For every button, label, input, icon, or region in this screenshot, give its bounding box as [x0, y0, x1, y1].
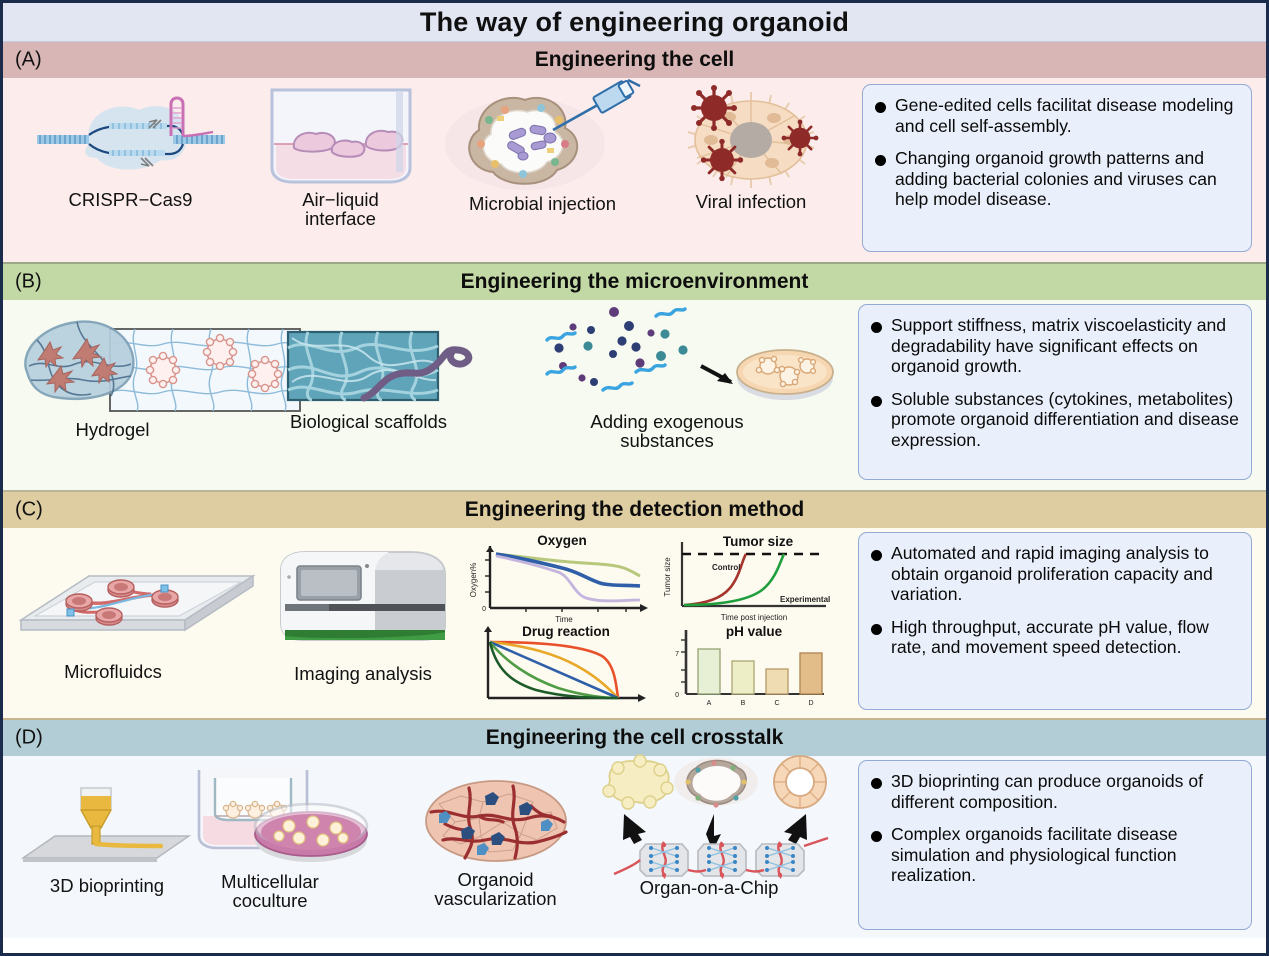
- bioprinter-nozzle-icon: [21, 784, 193, 866]
- bullet-icon: [875, 102, 886, 113]
- chart-ph-xtick-d: D: [808, 700, 813, 707]
- air-liquid-interface-icon: [262, 86, 420, 188]
- chart-ph-ytick-7: 7: [675, 651, 679, 658]
- panel-b-tag: (B): [15, 271, 42, 294]
- organoid-grey: [674, 758, 758, 808]
- chart-tumor-size-title: Tumor size: [723, 534, 794, 549]
- note-item: 3D bioprinting can produce organoids of …: [869, 771, 1239, 812]
- panel-c-charts: Oxygen 0 Oxygen% Time: [458, 532, 838, 712]
- note-item: Complex organoids facilitate disease sim…: [869, 824, 1239, 886]
- note-item: High throughput, accurate pH value, flow…: [869, 617, 1239, 658]
- viral-infection-icon: [664, 90, 839, 190]
- panel-b-body: Hydrogel: [3, 300, 1266, 490]
- arrow-icon: [623, 814, 807, 844]
- panel-d: (D) Engineering the cell crosstalk: [3, 720, 1266, 938]
- item-hydrogel: Hydrogel: [15, 310, 305, 439]
- label-air-liquid-interface: Air−liquid interface: [302, 190, 379, 228]
- panel-c-header: (C) Engineering the detection method: [3, 492, 1266, 528]
- bullet-icon: [875, 155, 886, 166]
- note-text: High throughput, accurate pH value, flow…: [891, 617, 1239, 658]
- label-organoid-vascularization: Organoid vascularization: [434, 870, 556, 908]
- bar-d: [800, 653, 822, 694]
- panel-b: (B) Engineering the microenvironment: [3, 264, 1266, 490]
- bar-c: [766, 669, 788, 694]
- label-hydrogel: Hydrogel: [75, 420, 149, 439]
- label-3d-bioprinting: 3D bioprinting: [50, 876, 164, 895]
- organ-on-a-chip-icon: [588, 758, 838, 876]
- bar-b: [732, 661, 754, 694]
- chart-ph-xtick-c: C: [774, 700, 779, 707]
- item-microbial-injection: Microbial injection: [435, 86, 650, 213]
- panel-c: (C) Engineering the detection method: [3, 492, 1266, 718]
- note-item: Gene-edited cells facilitat disease mode…: [873, 95, 1239, 136]
- chart-tumor-size-ylabel: Tumor size: [663, 557, 672, 597]
- panel-d-tag: (D): [15, 727, 43, 750]
- panel-a-tag: (A): [15, 49, 42, 72]
- chart-tumor-size: Tumor size Tumor size Time post injectio…: [654, 532, 836, 624]
- panel-b-notes: Support stiffness, matrix viscoelasticit…: [858, 304, 1252, 480]
- item-air-liquid-interface: Air−liquid interface: [258, 86, 423, 228]
- label-viral-infection: Viral infection: [696, 192, 807, 211]
- panel-a-header: (A) Engineering the cell: [3, 42, 1266, 78]
- item-multicellular-coculture: Multicellular coculture: [181, 762, 381, 910]
- organoid-yellow: [603, 755, 673, 809]
- label-organ-on-a-chip: Organ-on-a-Chip: [640, 878, 779, 897]
- note-text: Gene-edited cells facilitat disease mode…: [895, 95, 1239, 136]
- item-organoid-vascularization: Organoid vascularization: [403, 778, 588, 908]
- panel-d-title: Engineering the cell crosstalk: [486, 726, 784, 750]
- label-microbial-injection: Microbial injection: [469, 194, 616, 213]
- biological-scaffolds-icon: [286, 330, 521, 402]
- note-text: Support stiffness, matrix viscoelasticit…: [891, 315, 1239, 377]
- chart-oxygen-ylabel: Oxygen%: [469, 563, 478, 598]
- imaging-analyzer-icon: [263, 544, 463, 648]
- label-imaging-analysis: Imaging analysis: [294, 664, 432, 683]
- label-multicellular-coculture: Multicellular coculture: [221, 872, 319, 910]
- panel-b-header: (B) Engineering the microenvironment: [3, 264, 1266, 300]
- bullet-icon: [871, 396, 882, 407]
- panel-c-title: Engineering the detection method: [465, 498, 805, 522]
- note-text: Changing organoid growth patterns and ad…: [895, 148, 1239, 210]
- panel-c-tag: (C): [15, 499, 43, 522]
- note-text: Soluble substances (cytokines, metabolit…: [891, 389, 1239, 451]
- note-text: Complex organoids facilitate disease sim…: [891, 824, 1239, 886]
- bullet-icon: [871, 550, 882, 561]
- microbial-injection-icon: [435, 86, 650, 192]
- item-adding-exogenous-substances: Adding exogenous substances: [533, 304, 833, 450]
- label-crispr-cas9: CRISPR−Cas9: [69, 190, 193, 209]
- chart-oxygen-title: Oxygen: [537, 533, 587, 548]
- item-crispr-cas9: CRISPR−Cas9: [23, 92, 238, 209]
- figure-title-bar: The way of engineering organoid: [3, 3, 1266, 42]
- label-adding-exogenous-substances: Adding exogenous substances: [590, 412, 743, 450]
- note-item: Soluble substances (cytokines, metabolit…: [869, 389, 1239, 451]
- chart-ph-xtick-b: B: [741, 700, 746, 707]
- item-microfluidics: Microfluidcs: [17, 568, 257, 681]
- chart-ph-ytick-0: 0: [675, 692, 679, 699]
- chart-ph-value: pH value 7 0 A B: [654, 620, 836, 712]
- note-text: Automated and rapid imaging analysis to …: [891, 543, 1239, 605]
- figure-root: The way of engineering organoid (A) Engi…: [0, 0, 1269, 956]
- bullet-icon: [871, 624, 882, 635]
- adding-exogenous-substances-icon: [533, 304, 833, 410]
- panel-a-title: Engineering the cell: [535, 48, 735, 72]
- note-item: Automated and rapid imaging analysis to …: [869, 543, 1239, 605]
- bullet-icon: [871, 831, 882, 842]
- item-organ-on-a-chip: Organ-on-a-Chip: [583, 758, 843, 897]
- label-microfluidics: Microfluidcs: [64, 662, 162, 681]
- organoid-ring: [774, 756, 826, 808]
- chart-drug-reaction-title: Drug reaction: [522, 624, 610, 639]
- panel-a: (A) Engineering the cell: [3, 42, 1266, 262]
- chart-ph-xtick-a: A: [707, 700, 712, 707]
- chart-oxygen-y-zero: 0: [482, 606, 486, 613]
- bullet-icon: [871, 778, 882, 789]
- panel-d-notes: 3D bioprinting can produce organoids of …: [858, 760, 1252, 930]
- microfluidics-chip-icon: [17, 568, 257, 646]
- panel-b-title: Engineering the microenvironment: [461, 270, 809, 294]
- bullet-icon: [871, 322, 882, 333]
- chart-drug-reaction: Drug reaction: [466, 620, 652, 712]
- figure-title: The way of engineering organoid: [420, 7, 849, 38]
- multicellular-coculture-icon: [181, 762, 381, 868]
- hydrogel-icon: [15, 310, 305, 418]
- chart-ph-value-title: pH value: [726, 624, 783, 639]
- item-viral-infection: Viral infection: [661, 90, 841, 211]
- bar-a: [698, 649, 720, 694]
- item-3d-bioprinting: 3D bioprinting: [17, 784, 197, 895]
- crispr-cas9-icon: [31, 92, 231, 188]
- chart-tumor-size-legend-experimental: Experimental: [780, 595, 830, 604]
- panel-a-body: CRISPR−Cas9: [3, 78, 1266, 262]
- panel-c-notes: Automated and rapid imaging analysis to …: [858, 532, 1252, 710]
- item-biological-scaffolds: Biological scaffolds: [286, 330, 521, 431]
- panel-d-header: (D) Engineering the cell crosstalk: [3, 720, 1266, 756]
- vascularized-organoid-icon: [421, 778, 571, 864]
- chart-tumor-size-legend-control: Control: [712, 563, 740, 572]
- item-imaging-analysis: Imaging analysis: [258, 544, 468, 683]
- note-text: 3D bioprinting can produce organoids of …: [891, 771, 1239, 812]
- note-item: Support stiffness, matrix viscoelasticit…: [869, 315, 1239, 377]
- label-biological-scaffolds: Biological scaffolds: [290, 412, 447, 431]
- panel-a-notes: Gene-edited cells facilitat disease mode…: [862, 84, 1252, 252]
- panel-d-body: 3D bioprinting: [3, 756, 1266, 938]
- panel-c-body: Microfluidcs: [3, 528, 1266, 718]
- note-item: Changing organoid growth patterns and ad…: [873, 148, 1239, 210]
- chart-oxygen: Oxygen 0 Oxygen% Time: [458, 532, 654, 624]
